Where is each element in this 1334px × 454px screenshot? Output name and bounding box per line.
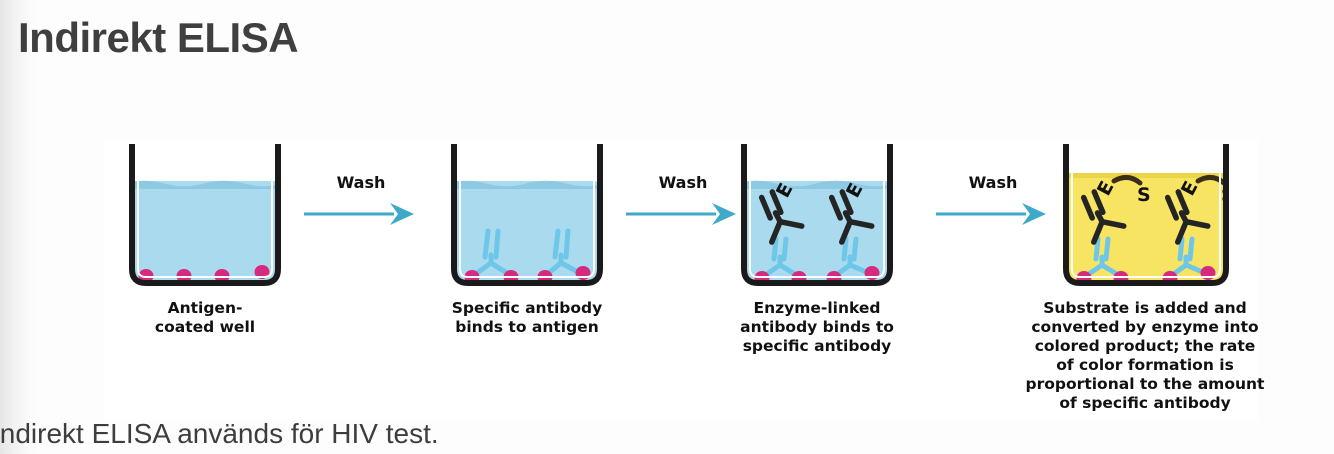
- wash-arrow-1-icon: [302, 199, 420, 229]
- page-title: Indirekt ELISA: [18, 14, 298, 62]
- step-substrate-added: E S E S Substrate is added and converted…: [1034, 139, 1254, 421]
- step-3-label: Enzyme-linked antibody binds to specific…: [702, 299, 932, 356]
- step-4-label: Substrate is added and converted by enzy…: [1020, 299, 1270, 413]
- well-2-graphic: [434, 139, 620, 291]
- elisa-figure: Antigen- coated well Wash: [104, 139, 1258, 421]
- substrate-marker-s-1: S: [1137, 184, 1151, 206]
- slide-caption: Indirekt ELISA används för HIV test.: [0, 418, 439, 450]
- well-4-graphic: E S E S: [1034, 139, 1254, 291]
- slide-left-shadow: [0, 0, 40, 454]
- step-2-label: Specific antibody binds to antigen: [412, 299, 642, 337]
- step-antigen-coated-well: Antigen- coated well: [112, 139, 298, 421]
- step-specific-antibody: Specific antibody binds to antigen: [434, 139, 620, 421]
- well-1-graphic: [112, 139, 298, 291]
- wash-arrow-1: Wash: [302, 173, 420, 243]
- step-enzyme-linked-antibody: E E Enzyme-linked antibody binds to spec…: [724, 139, 910, 421]
- step-1-label: Antigen- coated well: [90, 299, 320, 337]
- well-3-graphic: E E: [724, 139, 910, 291]
- wash-arrow-1-label: Wash: [302, 173, 420, 192]
- slide-canvas: Indirekt ELISA: [0, 0, 1334, 454]
